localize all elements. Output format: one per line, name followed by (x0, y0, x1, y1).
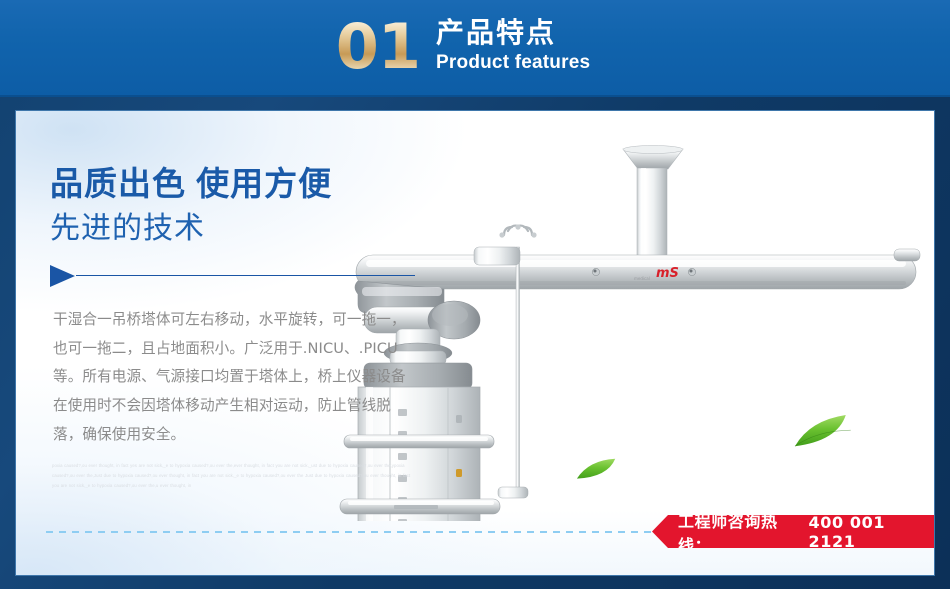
header-inner: 01 产品特点 Product features (336, 17, 590, 79)
product-illustration: mS medical (338, 131, 934, 521)
headline-secondary: 先进的技术 (50, 209, 332, 248)
body-paragraph: 干湿合一吊桥塔体可左右移动，水平旋转，可一拖一，也可一拖二，且占地面积小。广泛用… (53, 306, 413, 450)
hotline-phone: 400 001 2121 (809, 513, 934, 551)
hotline-banner: 工程师咨询热线： 400 001 2121 (652, 515, 934, 548)
svg-text:medical: medical (634, 276, 650, 281)
divider-line (76, 275, 415, 276)
filler-text: poxia caused?,ou ever thought, in fact y… (52, 461, 412, 491)
leaf-left (574, 458, 618, 481)
headline-block: 品质出色 使用方便 先进的技术 (50, 163, 332, 248)
triangle-marker-icon (50, 265, 75, 287)
header-title-cn: 产品特点 (436, 17, 590, 49)
leaf-right (790, 414, 851, 449)
arrow-divider (50, 263, 415, 287)
header-titles: 产品特点 Product features (436, 17, 590, 79)
content-card: mS medical 品质出色 使用方便 先进的技 (16, 111, 934, 575)
headline-primary: 品质出色 使用方便 (50, 163, 332, 205)
product-logo-text: mS (656, 266, 679, 281)
page-root: 01 产品特点 Product features (0, 0, 950, 589)
header-title-en: Product features (436, 51, 590, 75)
product-image: mS medical (338, 131, 934, 521)
content-frame: mS medical 品质出色 使用方便 先进的技 (15, 110, 935, 576)
dashed-connector-line (46, 531, 666, 533)
section-header: 01 产品特点 Product features (0, 0, 950, 97)
section-number: 01 (336, 18, 420, 79)
